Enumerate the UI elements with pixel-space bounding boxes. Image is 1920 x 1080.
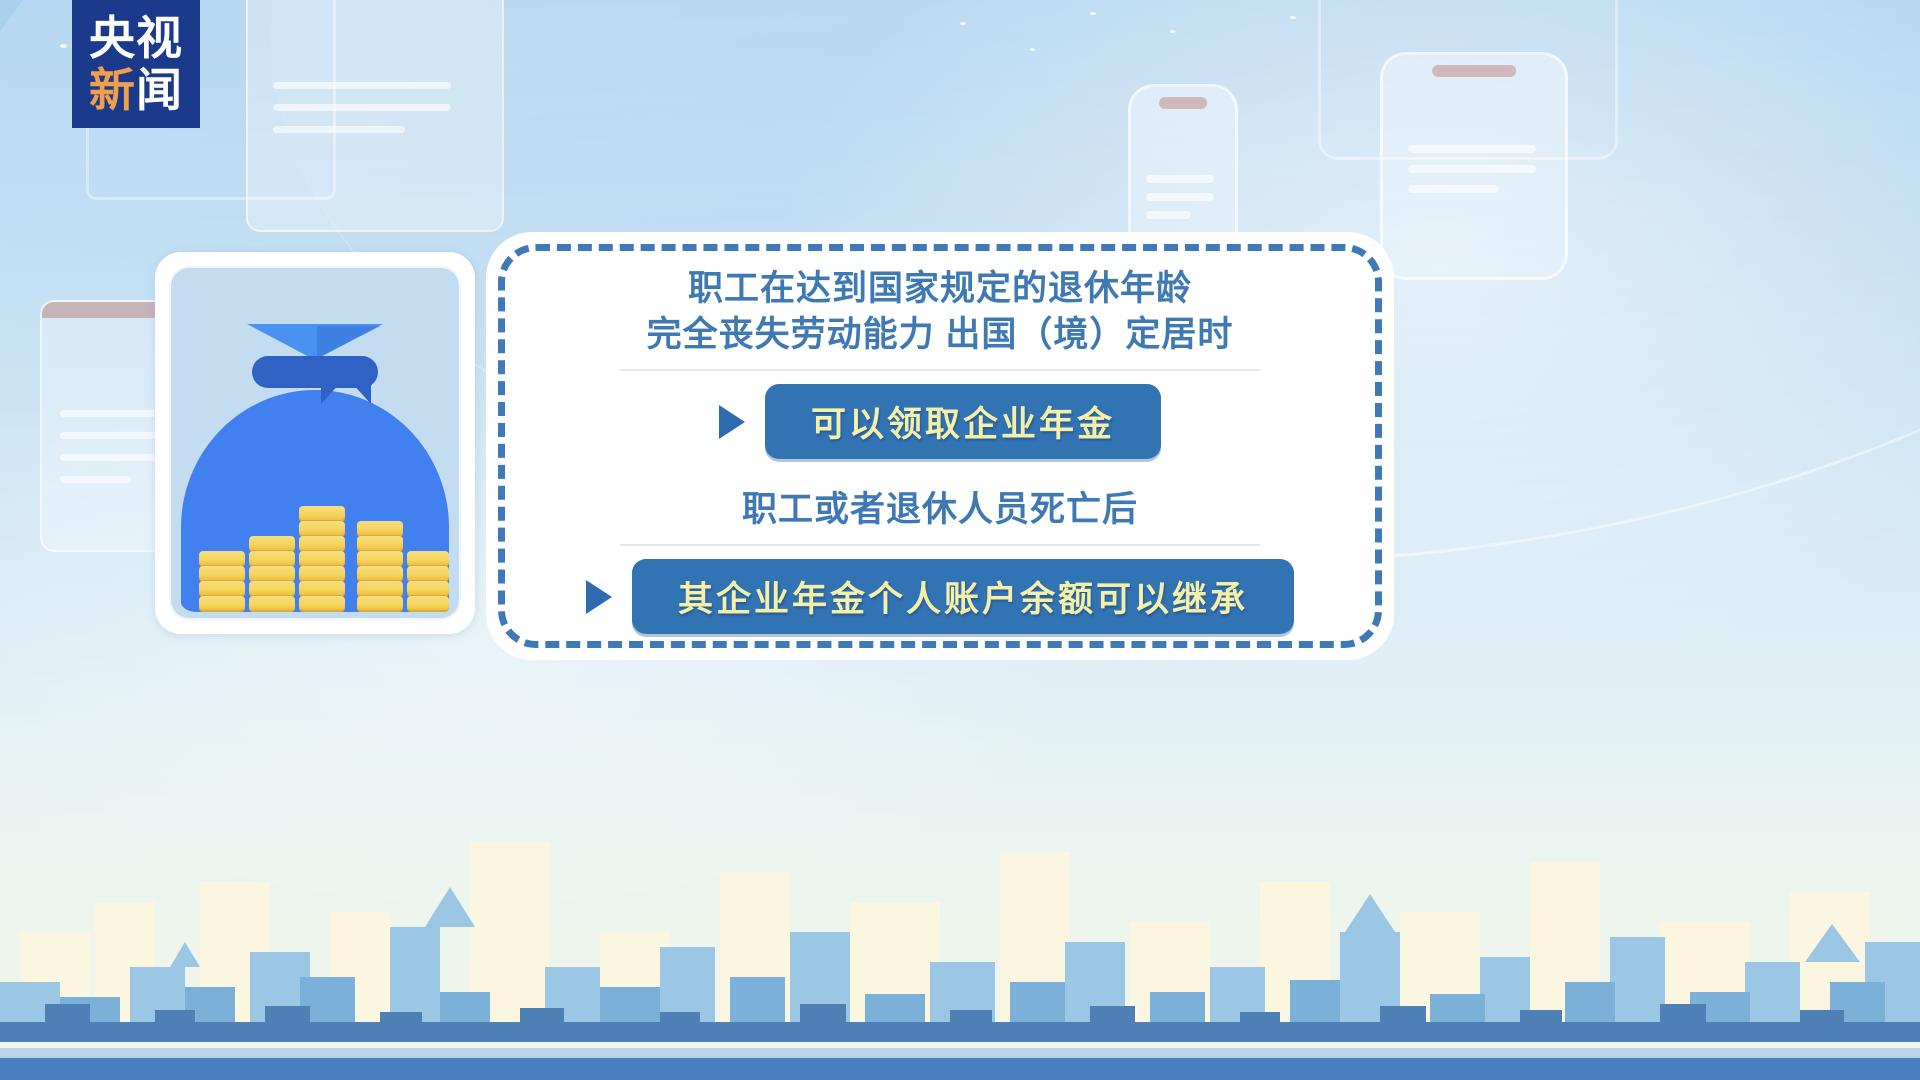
coin-stack bbox=[357, 522, 403, 612]
bg-outline-rect-2 bbox=[1318, 0, 1618, 160]
logo-text-wen: 闻 bbox=[136, 67, 183, 113]
logo-text-line1: 央视 bbox=[89, 15, 183, 61]
card-subtitle: 职工或者退休人员死亡后 bbox=[742, 481, 1138, 532]
star-sparkle bbox=[1290, 16, 1296, 19]
bottom-bar bbox=[0, 1058, 1920, 1080]
triangle-right-icon bbox=[586, 580, 612, 614]
divider-1 bbox=[620, 369, 1260, 371]
coin-stack bbox=[249, 537, 295, 612]
divider-2 bbox=[620, 544, 1260, 546]
coin-stack bbox=[199, 552, 245, 612]
triangle-right-icon bbox=[719, 405, 745, 439]
info-card: 职工在达到国家规定的退休年龄 完全丧失劳动能力 出国（境）定居时 可以领取企业年… bbox=[486, 232, 1394, 660]
bg-phone-notch-1 bbox=[1159, 97, 1207, 109]
card-title-line-1: 职工在达到国家规定的退休年龄 bbox=[688, 266, 1192, 312]
benefit-pill-1[interactable]: 可以领取企业年金 bbox=[765, 384, 1161, 459]
star-sparkle bbox=[60, 44, 67, 48]
logo-text-xin: 新 bbox=[89, 67, 136, 113]
city-skyline-silhouette bbox=[0, 782, 1920, 1042]
coin-stack bbox=[407, 552, 449, 612]
card-title-line-2: 完全丧失劳动能力 出国（境）定居时 bbox=[647, 312, 1234, 358]
benefit-row-1[interactable]: 可以领取企业年金 bbox=[719, 384, 1161, 459]
benefit-row-2[interactable]: 其企业年金个人账户余额可以继承 bbox=[586, 559, 1294, 634]
star-sparkle bbox=[960, 22, 966, 25]
benefit-pill-2[interactable]: 其企业年金个人账户余额可以继承 bbox=[632, 559, 1294, 634]
star-sparkle bbox=[1090, 12, 1096, 15]
star-sparkle bbox=[1030, 48, 1035, 51]
star-sparkle bbox=[1170, 30, 1175, 33]
illustration-card bbox=[155, 252, 475, 634]
money-bag-neck-icon bbox=[252, 356, 378, 388]
money-bag-flap-shadow bbox=[317, 326, 381, 358]
coin-stack bbox=[299, 507, 345, 612]
illustration-inner-panel bbox=[169, 266, 461, 620]
cctv-news-logo: 央视 新 闻 bbox=[72, 0, 200, 128]
bottom-accent-strip bbox=[0, 1048, 1920, 1058]
slide-stage: 央视 新 闻 bbox=[0, 0, 1920, 1080]
